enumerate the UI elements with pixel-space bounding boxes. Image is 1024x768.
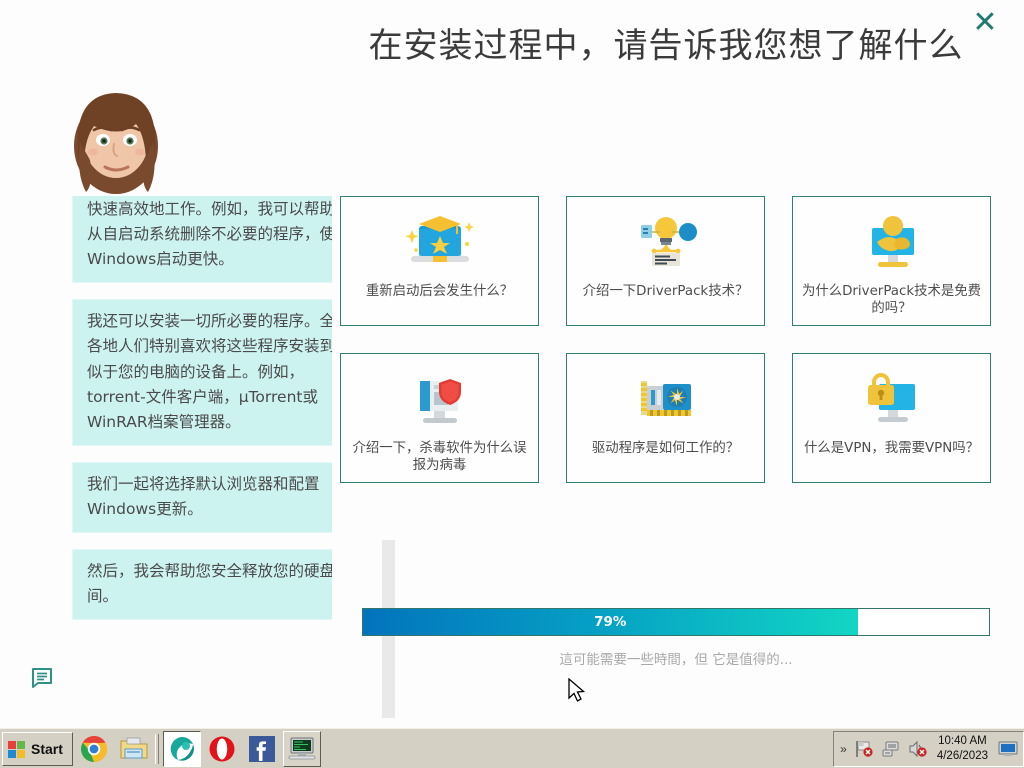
chat-bubble: 我们一起将选择默认浏览器和配置Windows更新。 <box>72 462 332 533</box>
chat-bubble-icon[interactable] <box>30 666 54 690</box>
quick-launch-bar <box>73 729 153 768</box>
desktop: ✕ 在安装过程中，请告诉我您想了解什么 快速高效地工作。例如，我可以帮助您从自启… <box>0 0 1024 768</box>
faq-card-label: 驱动程序是如何工作的？ <box>586 436 745 457</box>
flag-error-icon[interactable] <box>854 740 874 758</box>
show-desktop-icon[interactable] <box>997 740 1019 758</box>
taskbar-item-system-monitor[interactable] <box>283 731 321 767</box>
taskbar-item-facebook[interactable] <box>243 731 281 767</box>
faq-card-label: 介绍一下，杀毒软件为什么误报为病毒 <box>341 436 538 474</box>
faq-card-label: 为什么DriverPack技术是免费的吗？ <box>793 279 990 317</box>
page-title: 在安装过程中，请告诉我您想了解什么 <box>336 22 996 71</box>
faq-card-label: 介绍一下DriverPack技术？ <box>577 279 755 300</box>
taskbar-divider <box>155 734 159 764</box>
graphics-card-icon <box>567 364 764 436</box>
driverpack-icon <box>168 735 196 763</box>
start-button-label: Start <box>31 741 63 757</box>
faq-card-grid: 重新启动后会发生什么？ <box>340 196 992 483</box>
progress-note: 這可能需要一些時間，但 它是值得的... <box>362 648 990 668</box>
monitor-gift-hands-icon <box>793 207 990 279</box>
faq-card[interactable]: 介绍一下DriverPack技术？ <box>566 196 765 326</box>
windows-logo-icon <box>7 739 27 759</box>
taskbar: Start <box>0 728 1024 768</box>
clock-time: 10:40 AM <box>938 734 987 748</box>
faq-card[interactable]: 介绍一下，杀毒软件为什么误报为病毒 <box>340 353 539 483</box>
start-button[interactable]: Start <box>2 732 73 766</box>
folder-icon <box>120 736 148 762</box>
close-icon[interactable]: ✕ <box>968 6 1002 40</box>
progress-track: 79% <box>362 608 990 636</box>
taskbar-item-opera[interactable] <box>203 731 241 767</box>
network-icon[interactable] <box>881 740 901 758</box>
lightbulb-network-icon <box>567 207 764 279</box>
chevron-up-icon[interactable]: » <box>840 742 847 756</box>
chat-bubble: 然后，我会帮助您安全释放您的硬盘空间。 <box>72 549 332 620</box>
opera-icon <box>208 735 236 763</box>
monitor-lock-icon <box>793 364 990 436</box>
install-progress: 79% 這可能需要一些時間，但 它是值得的... <box>362 608 990 668</box>
taskbar-item-chrome[interactable] <box>75 731 113 767</box>
progress-percent-label: 79% <box>363 609 858 635</box>
faq-card-label: 什么是VPN，我需要VPN吗？ <box>798 436 985 457</box>
mouse-cursor <box>568 678 586 709</box>
chat-messages-list[interactable]: 快速高效地工作。例如，我可以帮助您从自启动系统删除不必要的程序，使Windows… <box>72 196 332 718</box>
clock-date: 4/26/2023 <box>937 749 988 763</box>
taskbar-item-file-explorer[interactable] <box>115 731 153 767</box>
system-tray: » 10:40 AM 4/26/20 <box>833 731 1024 767</box>
taskbar-item-driverpack[interactable] <box>163 731 201 767</box>
faq-card[interactable]: 为什么DriverPack技术是免费的吗？ <box>792 196 991 326</box>
faq-card[interactable]: 驱动程序是如何工作的？ <box>566 353 765 483</box>
faq-card-label: 重新启动后会发生什么？ <box>360 279 519 300</box>
speaker-muted-icon[interactable] <box>908 740 928 758</box>
faq-card[interactable]: 重新启动后会发生什么？ <box>340 196 539 326</box>
computer-icon <box>287 736 317 762</box>
chat-bubble: 我还可以安装一切所必要的程序。全球各地人们特别喜欢将这些程序安装到类似于您的电脑… <box>72 299 332 446</box>
laptop-graduation-star-icon <box>341 207 538 279</box>
faq-card[interactable]: 什么是VPN，我需要VPN吗？ <box>792 353 991 483</box>
assistant-avatar <box>60 80 172 198</box>
facebook-icon <box>248 735 276 763</box>
chrome-icon <box>80 735 108 763</box>
chat-bubble: 快速高效地工作。例如，我可以帮助您从自启动系统删除不必要的程序，使Windows… <box>72 196 332 283</box>
clock[interactable]: 10:40 AM 4/26/2023 <box>935 734 990 763</box>
monitor-shield-icon <box>341 364 538 436</box>
